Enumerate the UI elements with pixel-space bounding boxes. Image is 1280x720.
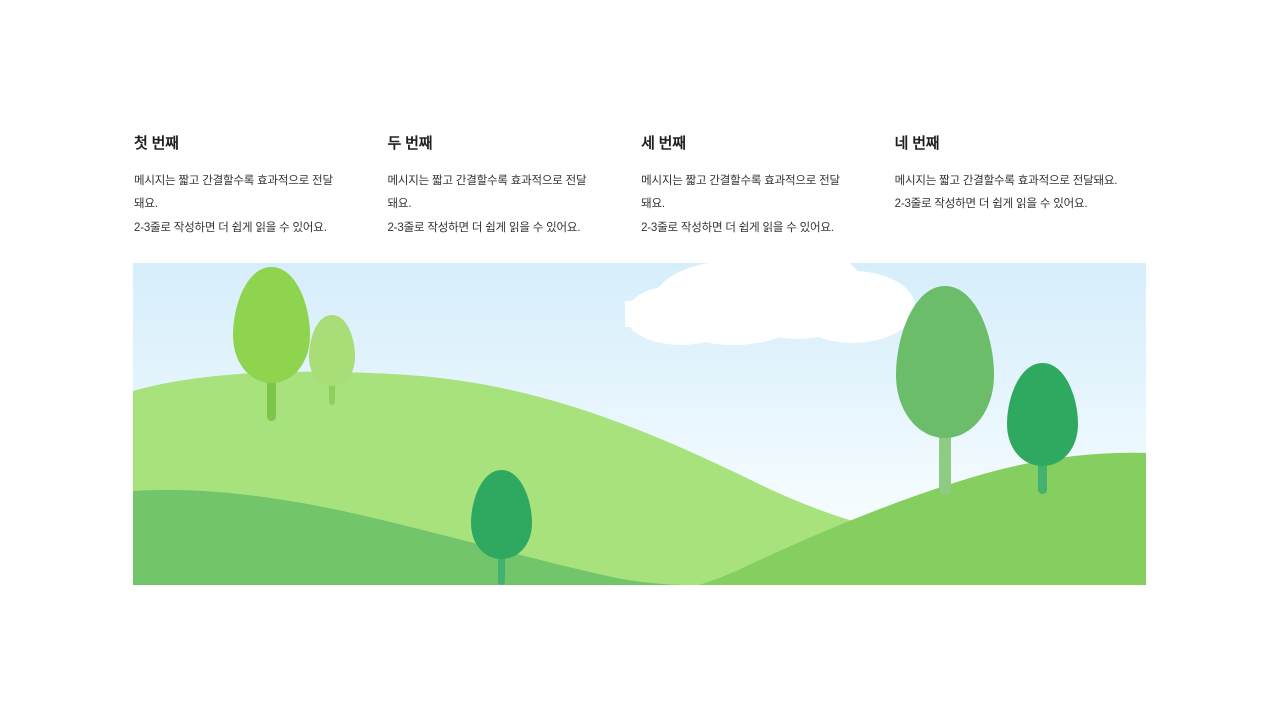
landscape-illustration-svg xyxy=(133,263,1146,585)
column-1-body-line-1: 메시지는 짧고 간결할수록 효과적으로 전달돼요. xyxy=(134,170,342,217)
text-columns: 첫 번째 메시지는 짧고 간결할수록 효과적으로 전달돼요. 2-3줄로 작성하… xyxy=(134,134,1146,240)
column-3: 세 번째 메시지는 짧고 간결할수록 효과적으로 전달돼요. 2-3줄로 작성하… xyxy=(641,134,895,240)
column-2-body-line-2: 2-3줄로 작성하면 더 쉽게 읽을 수 있어요. xyxy=(388,217,596,241)
slide-canvas: 첫 번째 메시지는 짧고 간결할수록 효과적으로 전달돼요. 2-3줄로 작성하… xyxy=(0,0,1280,720)
cloud-shape xyxy=(625,263,915,345)
column-4-body-line-1: 메시지는 짧고 간결할수록 효과적으로 전달돼요. xyxy=(895,170,1146,194)
landscape-illustration xyxy=(133,263,1146,585)
column-1-title: 첫 번째 xyxy=(134,134,342,154)
column-2-title: 두 번째 xyxy=(388,134,596,154)
column-2: 두 번째 메시지는 짧고 간결할수록 효과적으로 전달돼요. 2-3줄로 작성하… xyxy=(388,134,642,240)
column-1-body: 메시지는 짧고 간결할수록 효과적으로 전달돼요. 2-3줄로 작성하면 더 쉽… xyxy=(134,170,342,241)
column-3-title: 세 번째 xyxy=(641,134,849,154)
column-3-body: 메시지는 짧고 간결할수록 효과적으로 전달돼요. 2-3줄로 작성하면 더 쉽… xyxy=(641,170,849,241)
column-4: 네 번째 메시지는 짧고 간결할수록 효과적으로 전달돼요. 2-3줄로 작성하… xyxy=(895,134,1146,240)
column-4-title: 네 번째 xyxy=(895,134,1146,154)
column-1: 첫 번째 메시지는 짧고 간결할수록 효과적으로 전달돼요. 2-3줄로 작성하… xyxy=(134,134,388,240)
column-2-body: 메시지는 짧고 간결할수록 효과적으로 전달돼요. 2-3줄로 작성하면 더 쉽… xyxy=(388,170,596,241)
column-3-body-line-2: 2-3줄로 작성하면 더 쉽게 읽을 수 있어요. xyxy=(641,217,849,241)
column-4-body: 메시지는 짧고 간결할수록 효과적으로 전달돼요. 2-3줄로 작성하면 더 쉽… xyxy=(895,170,1146,217)
column-2-body-line-1: 메시지는 짧고 간결할수록 효과적으로 전달돼요. xyxy=(388,170,596,217)
column-1-body-line-2: 2-3줄로 작성하면 더 쉽게 읽을 수 있어요. xyxy=(134,217,342,241)
column-4-body-line-2: 2-3줄로 작성하면 더 쉽게 읽을 수 있어요. xyxy=(895,193,1146,217)
tree-right-large xyxy=(896,286,994,495)
column-3-body-line-1: 메시지는 짧고 간결할수록 효과적으로 전달돼요. xyxy=(641,170,849,217)
